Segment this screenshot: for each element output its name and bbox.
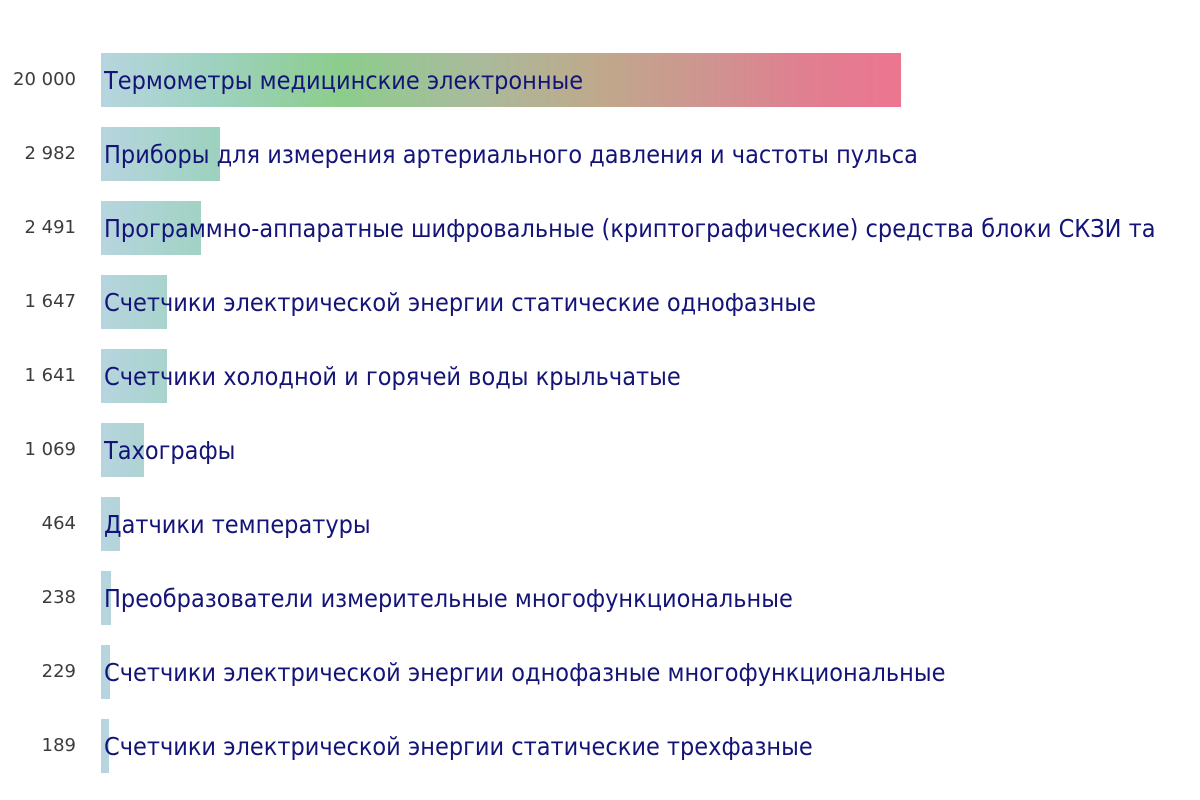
bar-value-label: 20 000 <box>0 53 76 107</box>
bar-row[interactable]: 464Датчики температуры <box>0 497 1200 571</box>
bar-value-label: 189 <box>0 719 76 773</box>
bar-rows-container: 20 000Термометры медицинские электронные… <box>0 0 1200 800</box>
bar-value-label: 2 982 <box>0 127 76 181</box>
bar-category-label: Счетчики холодной и горячей воды крыльча… <box>104 349 681 403</box>
bar-value-label: 464 <box>0 497 76 551</box>
bar-track <box>101 423 1200 477</box>
bar-row[interactable]: 229Счетчики электрической энергии однофа… <box>0 645 1200 719</box>
bar-chart: 20 000Термометры медицинские электронные… <box>0 0 1200 800</box>
bar-value-label: 238 <box>0 571 76 625</box>
bar-category-label: Датчики температуры <box>104 497 371 551</box>
bar-category-label: Приборы для измерения артериального давл… <box>104 127 918 181</box>
bar-value-label: 1 069 <box>0 423 76 477</box>
bar-category-label: Термометры медицинские электронные <box>104 53 583 107</box>
bar-category-label: Счетчики электрической энергии статическ… <box>104 719 813 773</box>
bar-category-label: Тахографы <box>104 423 235 477</box>
bar-category-label: Счетчики электрической энергии однофазны… <box>104 645 945 699</box>
bar-row[interactable]: 2 491Программно-аппаратные шифровальные … <box>0 201 1200 275</box>
bar-row[interactable]: 1 069Тахографы <box>0 423 1200 497</box>
bar-category-label: Счетчики электрической энергии статическ… <box>104 275 816 329</box>
bar-value-label: 2 491 <box>0 201 76 255</box>
bar-category-label: Программно-аппаратные шифровальные (крип… <box>104 201 1156 255</box>
bar-row[interactable]: 238Преобразователи измерительные многофу… <box>0 571 1200 645</box>
bar-value-label: 229 <box>0 645 76 699</box>
bar-row[interactable]: 1 647Счетчики электрической энергии стат… <box>0 275 1200 349</box>
bar-value-label: 1 641 <box>0 349 76 403</box>
bar-value-label: 1 647 <box>0 275 76 329</box>
bar-row[interactable]: 20 000Термометры медицинские электронные <box>0 53 1200 127</box>
bar-row[interactable]: 189Счетчики электрической энергии статич… <box>0 719 1200 793</box>
bar-row[interactable]: 2 982Приборы для измерения артериального… <box>0 127 1200 201</box>
bar-category-label: Преобразователи измерительные многофункц… <box>104 571 793 625</box>
bar-row[interactable]: 1 641Счетчики холодной и горячей воды кр… <box>0 349 1200 423</box>
